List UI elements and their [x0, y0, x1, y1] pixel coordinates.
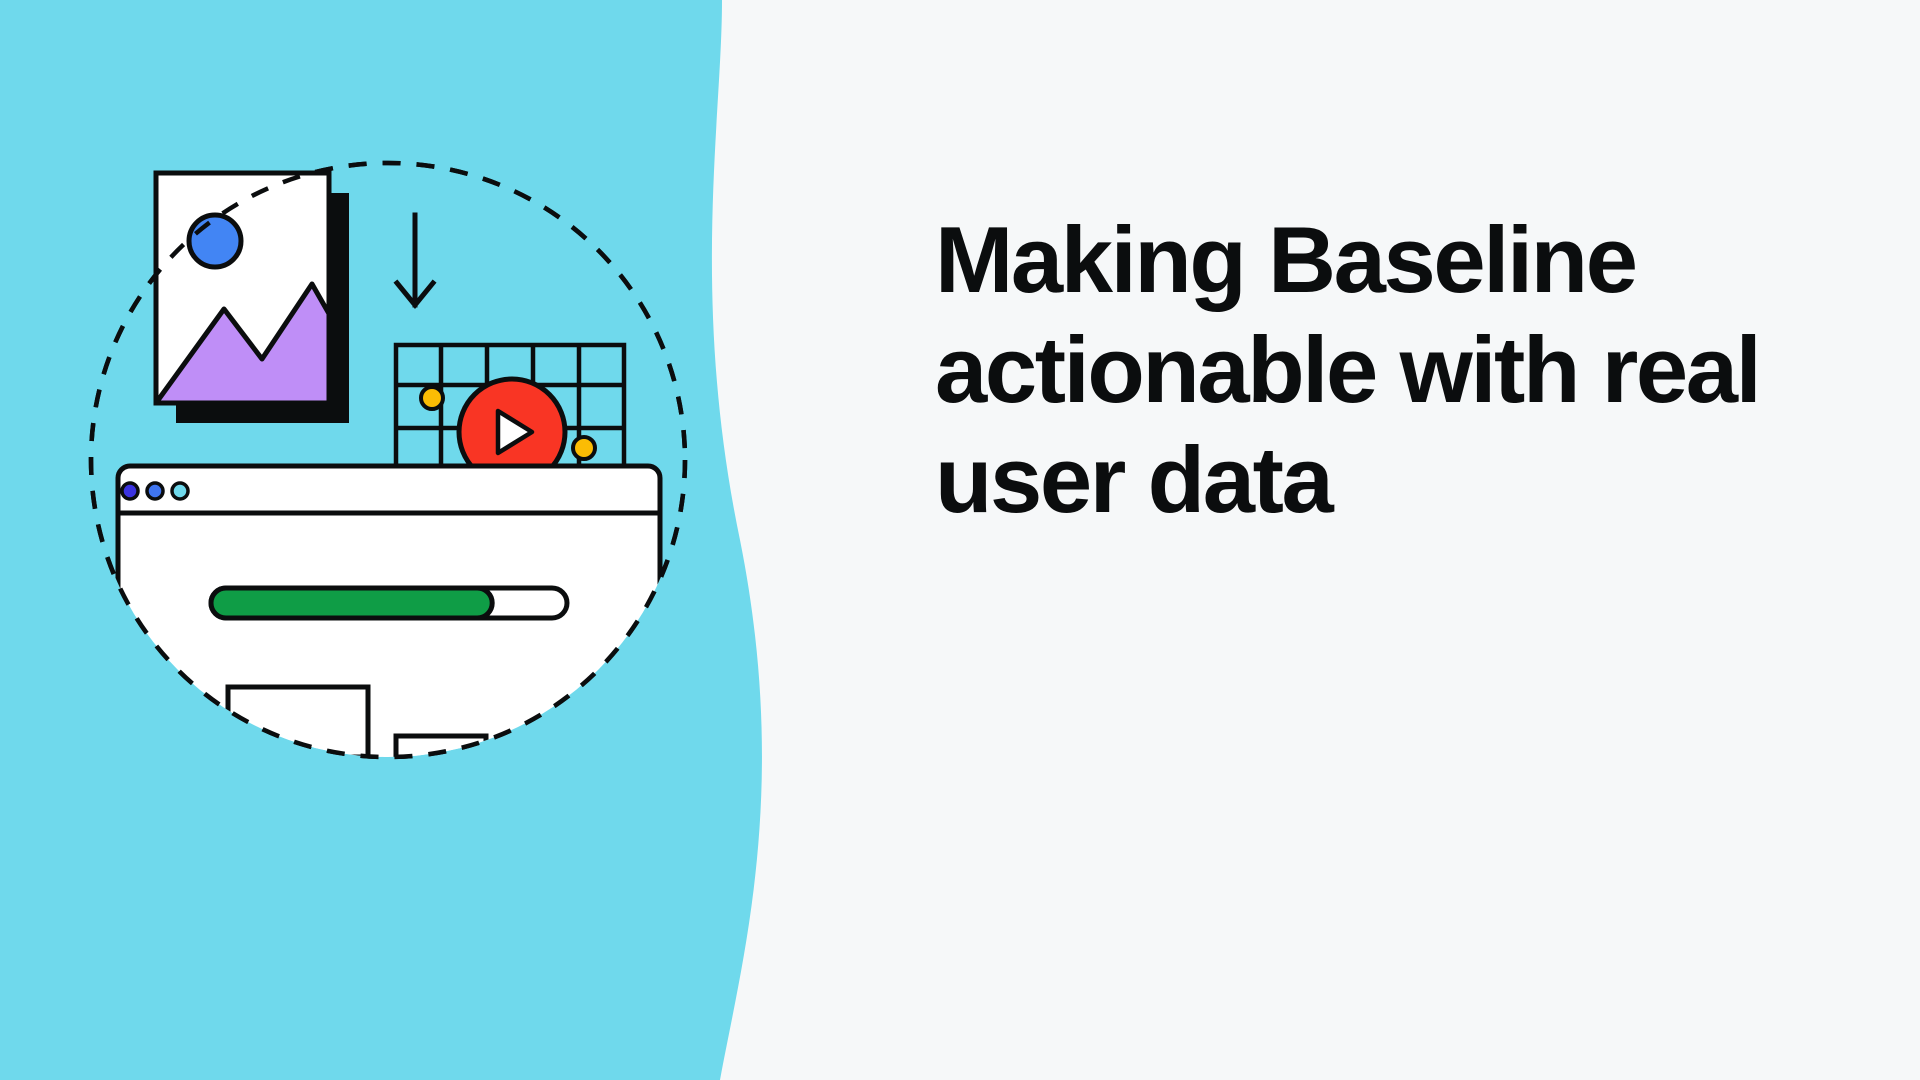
article-hero-banner: Making Baseline actionable with real use… [0, 0, 1920, 1080]
image-placeholder-card [156, 173, 380, 423]
headline-block: Making Baseline actionable with real use… [935, 205, 1765, 535]
web-performance-illustration [0, 0, 900, 1080]
download-arrow-icon [397, 215, 433, 305]
page-title: Making Baseline actionable with real use… [935, 205, 1765, 535]
browser-window [118, 466, 660, 800]
sun-circle-icon [189, 215, 241, 267]
grid-node-1 [421, 387, 443, 409]
window-dot-3[interactable] [172, 483, 188, 499]
browser-window-body [118, 466, 660, 800]
window-dot-1[interactable] [122, 483, 138, 499]
content-block-1 [228, 687, 368, 757]
loading-progress-fill [211, 588, 492, 618]
window-dot-2[interactable] [147, 483, 163, 499]
grid-node-2 [573, 437, 595, 459]
